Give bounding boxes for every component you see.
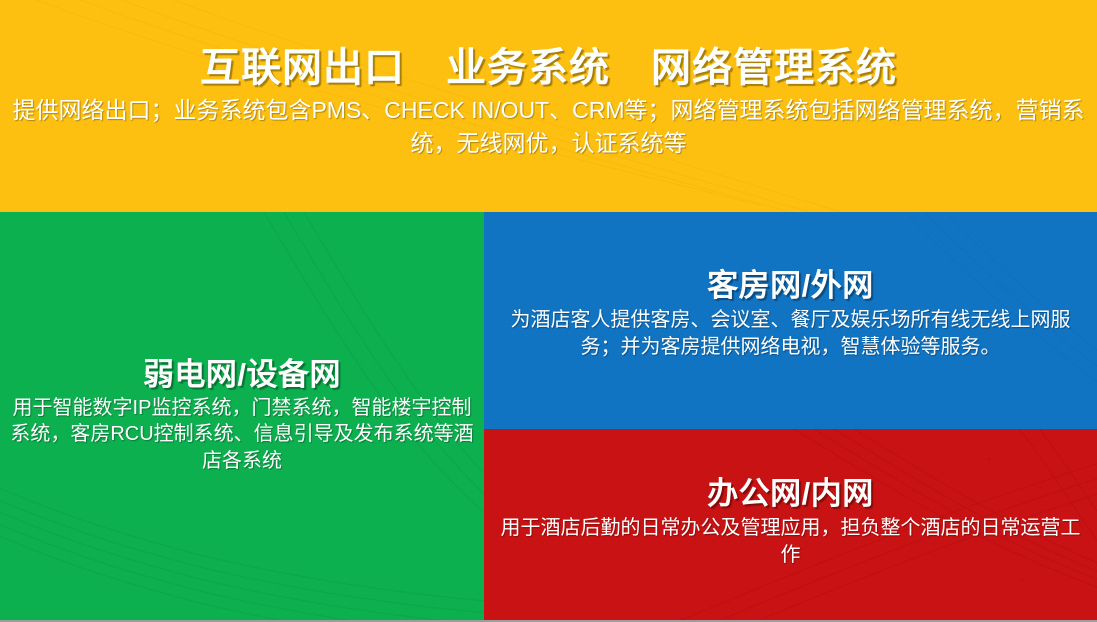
panel-weak-current-network-heading: 弱电网/设备网	[0, 358, 484, 392]
panel-office-network-body: 用于酒店后勤的日常办公及管理应用，担负整个酒店的日常运营工作	[484, 511, 1097, 569]
panel-guest-room-network-body: 为酒店客人提供客房、会议室、餐厅及娱乐场所有线无线上网服务；并为客房提供网络电视…	[484, 303, 1097, 361]
panel-internet-exit-content: 互联网出口 业务系统 网络管理系统 提供网络出口；业务系统包含PMS、CHECK…	[0, 0, 1097, 159]
panel-guest-room-network: 客房网/外网 为酒店客人提供客房、会议室、餐厅及娱乐场所有线无线上网服务；并为客…	[484, 212, 1097, 429]
panel-weak-current-network-body: 用于智能数字IP监控系统，门禁系统，智能楼宇控制系统，客房RCU控制系统、信息引…	[0, 392, 484, 474]
panel-guest-room-network-heading: 客房网/外网	[484, 269, 1097, 303]
panel-guest-room-network-content: 客房网/外网 为酒店客人提供客房、会议室、餐厅及娱乐场所有线无线上网服务；并为客…	[484, 269, 1097, 361]
panel-weak-current-network-content: 弱电网/设备网 用于智能数字IP监控系统，门禁系统，智能楼宇控制系统，客房RCU…	[0, 358, 484, 474]
panel-office-network: 办公网/内网 用于酒店后勤的日常办公及管理应用，担负整个酒店的日常运营工作	[484, 429, 1097, 620]
slide-canvas: 互联网出口 业务系统 网络管理系统 提供网络出口；业务系统包含PMS、CHECK…	[0, 0, 1097, 622]
panel-internet-exit: 互联网出口 业务系统 网络管理系统 提供网络出口；业务系统包含PMS、CHECK…	[0, 0, 1097, 212]
panel-office-network-content: 办公网/内网 用于酒店后勤的日常办公及管理应用，担负整个酒店的日常运营工作	[484, 477, 1097, 569]
panel-internet-exit-body: 提供网络出口；业务系统包含PMS、CHECK IN/OUT、CRM等；网络管理系…	[0, 90, 1097, 159]
panel-internet-exit-heading: 互联网出口 业务系统 网络管理系统	[0, 46, 1097, 90]
panel-weak-current-network: 弱电网/设备网 用于智能数字IP监控系统，门禁系统，智能楼宇控制系统，客房RCU…	[0, 212, 484, 620]
panel-office-network-heading: 办公网/内网	[484, 477, 1097, 511]
